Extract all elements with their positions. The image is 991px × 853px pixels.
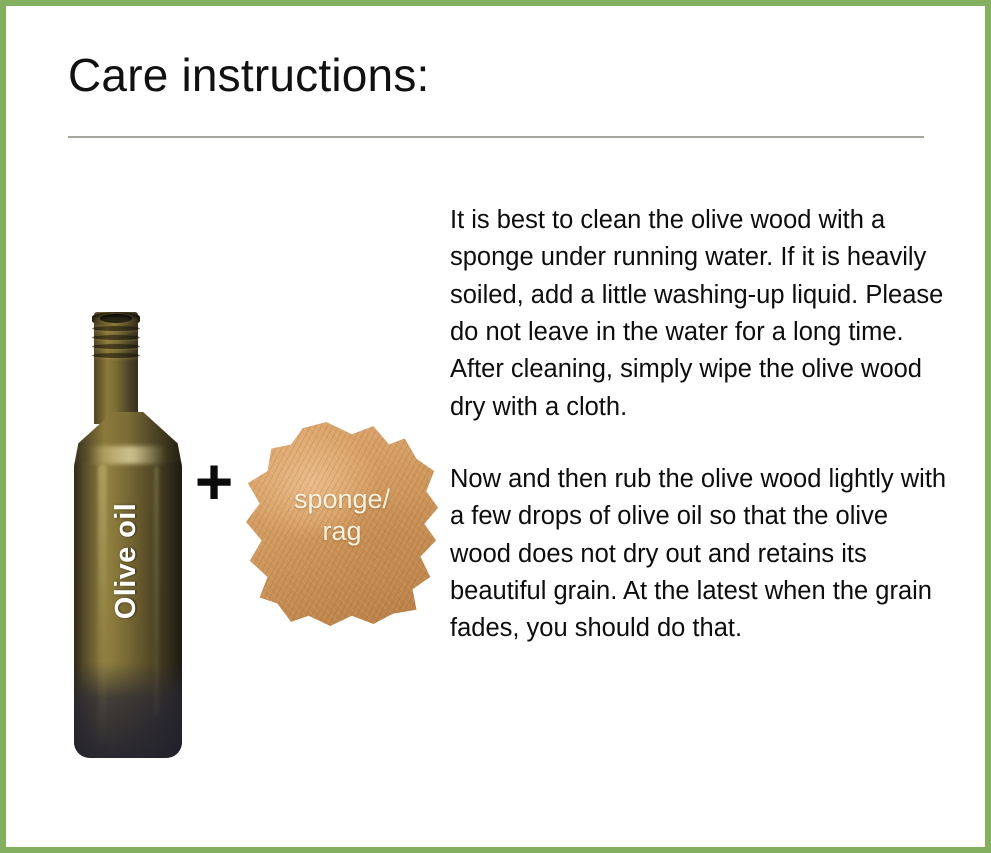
bottle-thread (92, 344, 140, 349)
illustration-panel: Olive oil + sponge/ rag (6, 6, 450, 853)
sponge-texture (244, 422, 440, 626)
bottle-thread (92, 353, 140, 358)
plus-icon: + (187, 454, 241, 508)
instruction-paragraph-2: Now and then rub the olive wood lightly … (450, 461, 954, 648)
bottle-body (74, 462, 182, 758)
bottle-opening (100, 314, 132, 323)
bottle-thread (92, 335, 140, 340)
sponge-shape (244, 422, 440, 626)
bottle-shoulder-glare (88, 446, 166, 464)
sponge-rag-image: sponge/ rag (244, 422, 440, 626)
instruction-paragraph-1: It is best to clean the olive wood with … (450, 202, 954, 426)
care-instructions-slide: Care instructions: Olive oil + (0, 0, 991, 853)
instructions-text-column: It is best to clean the olive wood with … (450, 202, 954, 648)
olive-oil-bottle-image: Olive oil (72, 312, 184, 764)
bottle-highlight (98, 464, 107, 750)
bottle-thread (92, 326, 140, 331)
bottle-highlight-secondary (154, 466, 159, 716)
